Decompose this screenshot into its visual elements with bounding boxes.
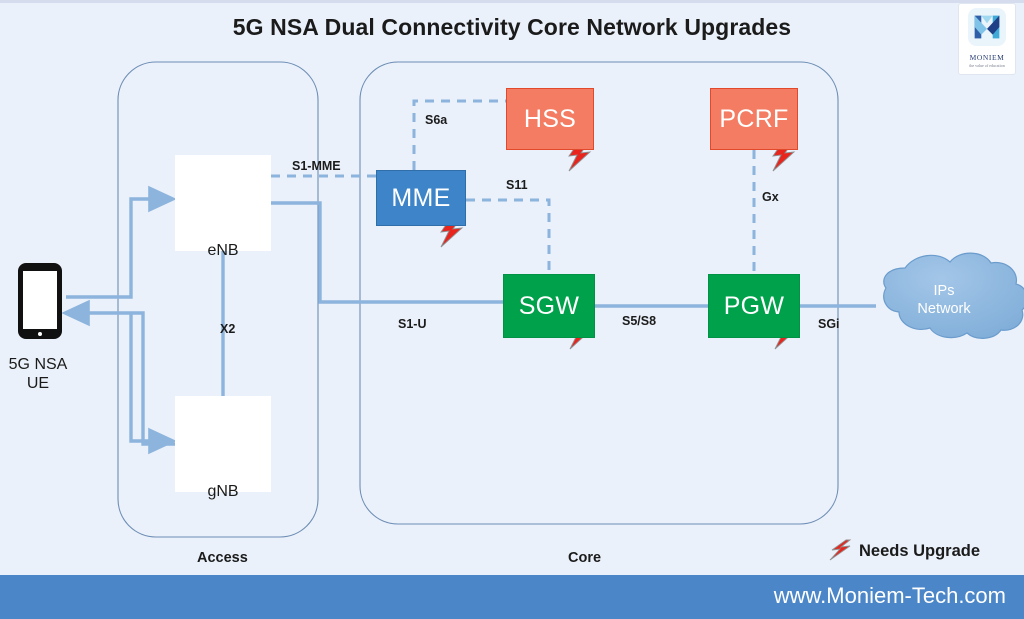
moniem-m-logo-icon (968, 8, 1006, 46)
link-label-sgi: SGi (818, 317, 840, 331)
node-label-ue-line2: UE (0, 374, 118, 393)
diagram-canvas: 5G NSA Dual Connectivity Core Network Up… (0, 0, 1024, 619)
phone-home-button (38, 332, 42, 336)
node-label-ips-network: IPs Network (889, 282, 999, 318)
logo-tagline: the value of education (959, 63, 1015, 68)
link-label-s5-s8: S5/S8 (622, 314, 656, 328)
node-gnb[interactable] (175, 396, 271, 492)
footer-url[interactable]: www.Moniem-Tech.com (774, 583, 1006, 609)
node-label-enb: eNB (143, 242, 303, 260)
phone-screen (23, 271, 57, 329)
smartphone-icon[interactable] (18, 263, 62, 339)
node-label-ue-line1: 5G NSA (0, 355, 118, 374)
group-label-core: Core (568, 550, 601, 566)
link-path-s11 (466, 200, 549, 274)
logo-name: MONIEM (959, 53, 1015, 62)
link-label-s6a: S6a (425, 113, 447, 127)
link-label-gx: Gx (762, 190, 779, 204)
link-label-s11: S11 (506, 178, 528, 192)
node-hss[interactable]: HSS (506, 88, 594, 150)
link-label-s1-mme: S1-MME (292, 159, 341, 173)
link-path-s6a (414, 101, 506, 170)
link-label-s1-u: S1-U (398, 317, 426, 331)
node-pgw[interactable]: PGW (708, 274, 800, 338)
group-label-access: Access (197, 550, 248, 566)
node-pcrf[interactable]: PCRF (710, 88, 798, 150)
legend-label: Needs Upgrade (859, 542, 980, 561)
link-label-x2: X2 (220, 322, 235, 336)
node-sgw[interactable]: SGW (503, 274, 595, 338)
node-label-gnb: gNB (143, 483, 303, 501)
brand-logo: MONIEM the value of education (958, 3, 1016, 75)
footer-bar: www.Moniem-Tech.com (0, 573, 1024, 619)
link-path-ue-gnb (131, 313, 172, 441)
legend: Needs Upgrade (828, 538, 980, 564)
ips-network-line1: IPs (889, 282, 999, 300)
node-label-ue: 5G NSA UE (0, 355, 118, 393)
node-mme[interactable]: MME (376, 170, 466, 226)
ips-network-line2: Network (889, 300, 999, 318)
lightning-bolt-icon-legend (828, 538, 852, 564)
page-title: 5G NSA Dual Connectivity Core Network Up… (0, 14, 1024, 41)
node-enb[interactable] (175, 155, 271, 251)
